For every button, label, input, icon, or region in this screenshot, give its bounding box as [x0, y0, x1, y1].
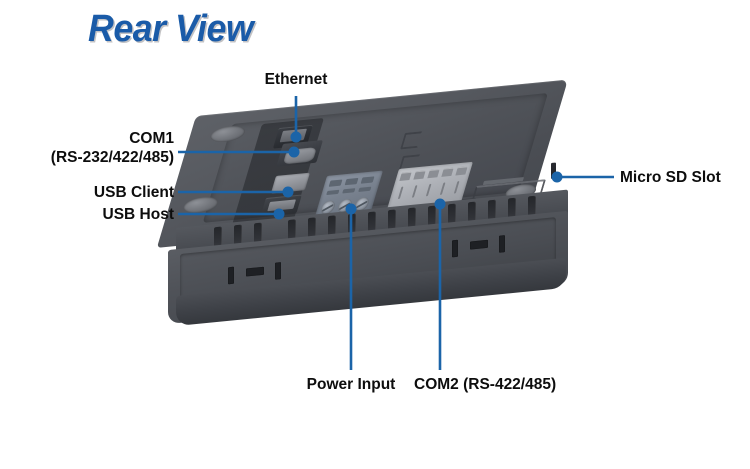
callout-usb-host: USB Host	[0, 205, 174, 224]
diagram-canvas: Rear View	[0, 0, 750, 469]
callout-micro-sd-slot-label: Micro SD Slot	[620, 169, 721, 186]
callout-ethernet: Ethernet	[214, 70, 378, 89]
callout-com1-line2: (RS-232/422/485)	[0, 148, 174, 167]
callout-usb-client-label: USB Client	[94, 184, 174, 201]
callout-power-input: Power Input	[281, 375, 421, 394]
callout-com1-line1: COM1	[0, 129, 174, 148]
callout-ethernet-label: Ethernet	[265, 71, 328, 88]
callout-usb-client: USB Client	[0, 183, 174, 202]
micro-sd-slot	[551, 163, 556, 179]
callout-com1: COM1 (RS-232/422/485)	[0, 129, 174, 167]
callout-com2: COM2 (RS-422/485)	[414, 375, 556, 394]
callout-micro-sd-slot: Micro SD Slot	[620, 168, 721, 187]
callout-usb-host-label: USB Host	[103, 206, 174, 223]
callout-power-input-label: Power Input	[307, 376, 396, 393]
callout-com2-label: COM2 (RS-422/485)	[414, 376, 556, 393]
